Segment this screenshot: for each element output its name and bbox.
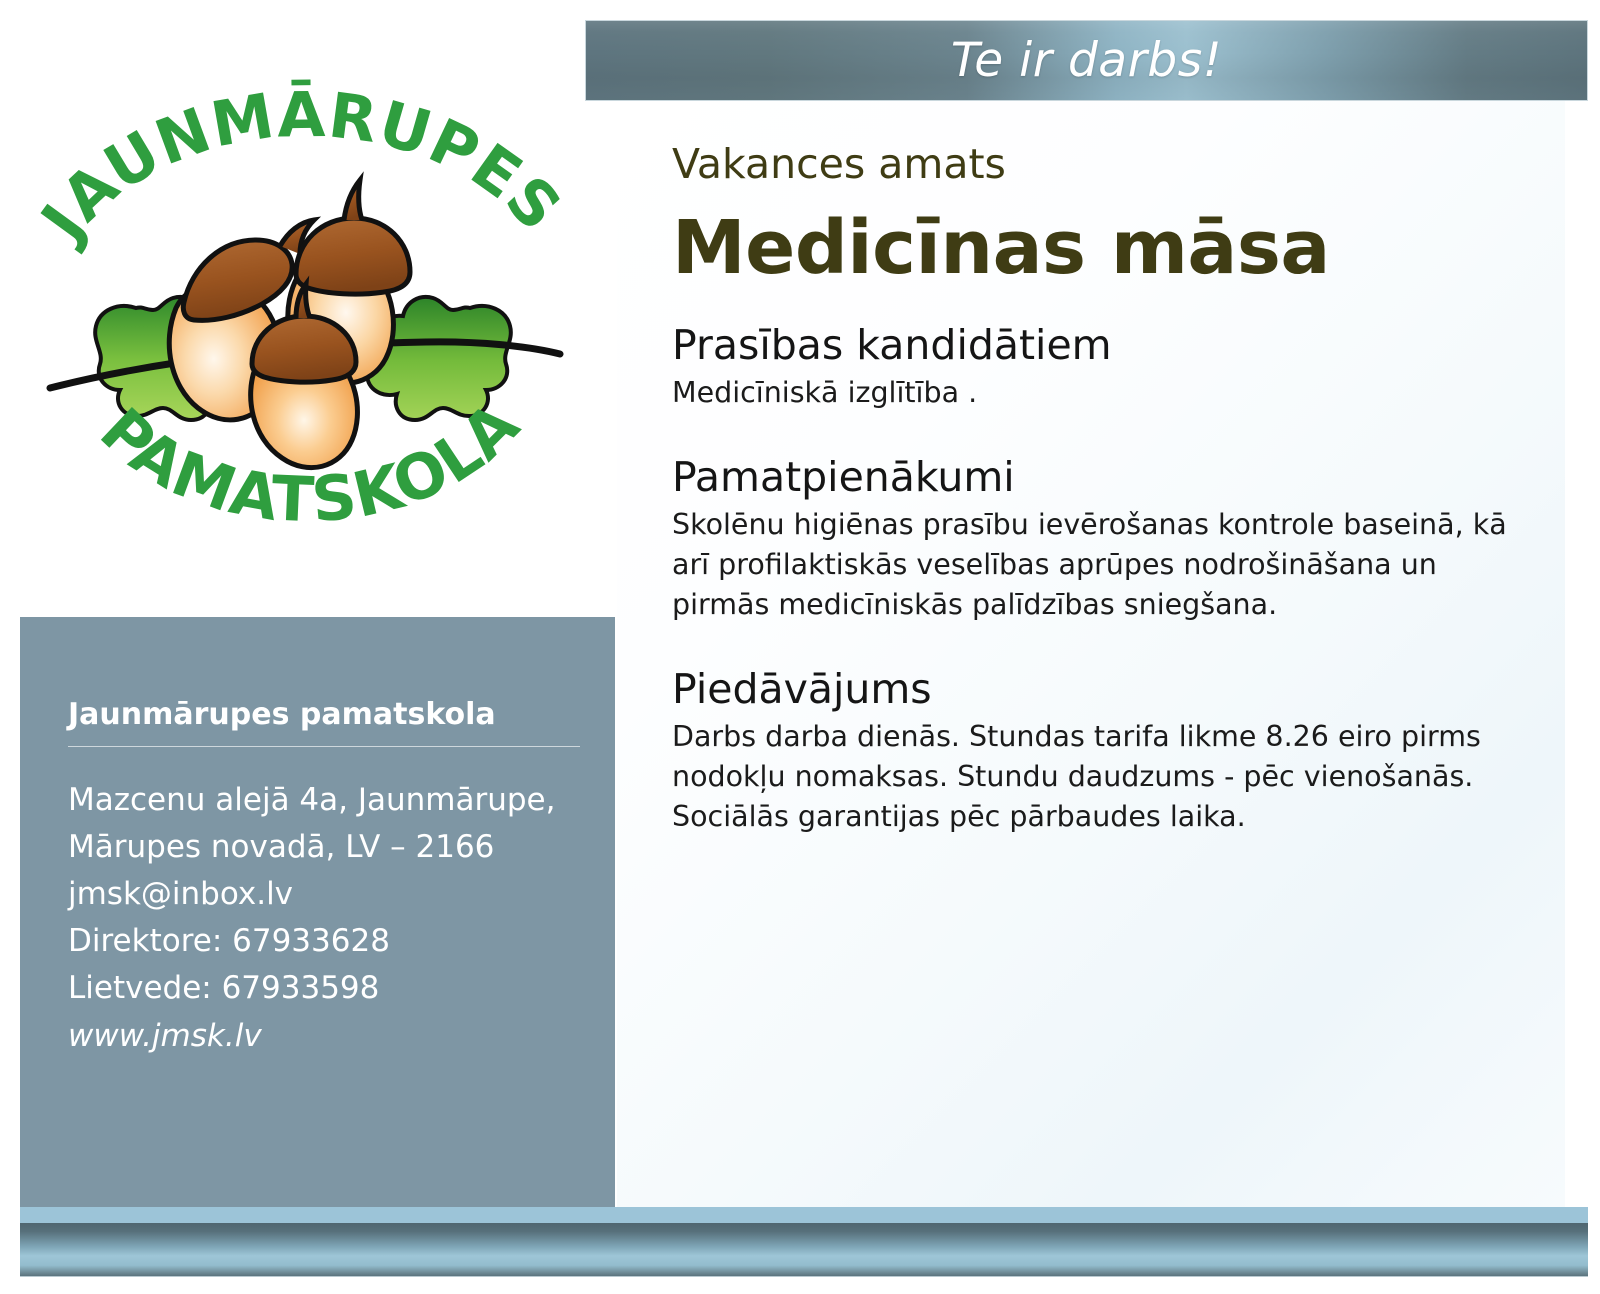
contact-divider (68, 746, 580, 747)
contact-organization-name: Jaunmārupes pamatskola (68, 697, 581, 732)
contact-phone-director: Direktore: 67933628 (68, 918, 581, 965)
section-heading: Pamatpienākumi (672, 455, 1517, 499)
vacancy-eyebrow: Vakances amats (672, 144, 1517, 185)
contact-address-line-2: Mārupes novadā, LV – 2166 (68, 824, 581, 871)
contact-address-line-1: Mazcenu alejā 4a, Jaunmārupe, (68, 777, 581, 824)
school-logo: JAUNMĀRUPES (8, 70, 598, 530)
section-heading: Piedāvājums (672, 667, 1517, 711)
section-requirements: Prasības kandidātiem Medicīniskā izglītī… (672, 323, 1517, 413)
vacancy-content: Vakances amats Medicīnas māsa Prasības k… (672, 144, 1517, 867)
logo-graphic: JAUNMĀRUPES (8, 70, 598, 530)
section-duties: Pamatpienākumi Skolēnu higiēnas prasību … (672, 455, 1517, 625)
contact-email[interactable]: jmsk@inbox.lv (68, 871, 581, 918)
contact-phone-clerk: Lietvede: 67933598 (68, 965, 581, 1012)
banner-title: Te ir darbs! (951, 33, 1222, 88)
section-body: Skolēnu higiēnas prasību ievērošanas kon… (672, 505, 1517, 625)
section-body: Darbs darba dienās. Stundas tarifa likme… (672, 717, 1517, 837)
contact-panel: Jaunmārupes pamatskola Mazcenu alejā 4a,… (20, 617, 615, 1207)
contact-website[interactable]: www.jmsk.lv (68, 1013, 581, 1060)
section-offer: Piedāvājums Darbs darba dienās. Stundas … (672, 667, 1517, 837)
footer-accent-strip (20, 1207, 1588, 1223)
section-body: Medicīniskā izglītība . (672, 373, 1517, 413)
header-banner: Te ir darbs! (585, 20, 1588, 101)
contact-details: Jaunmārupes pamatskola Mazcenu alejā 4a,… (68, 697, 581, 1060)
vacancy-panel: Vakances amats Medicīnas māsa Prasības k… (617, 101, 1565, 1207)
footer-bar (20, 1223, 1588, 1277)
section-heading: Prasības kandidātiem (672, 323, 1517, 367)
page-title: Medicīnas māsa (672, 211, 1517, 285)
